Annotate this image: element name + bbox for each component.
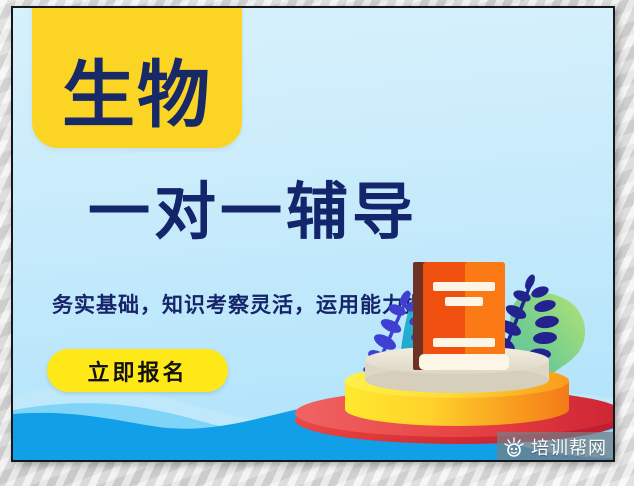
book [413,262,509,370]
page-title: 一对一辅导 [23,181,483,243]
book-band-2 [445,297,483,306]
enroll-now-button[interactable]: 立即报名 [47,349,228,392]
watermark-label: 培训帮网 [531,434,607,460]
book-cover-light [465,262,505,370]
sun-face-icon [503,437,525,457]
book-pages [419,354,509,370]
subject-badge-label: 生物 [32,59,242,132]
subject-badge: 生物 [32,6,242,148]
course-poster: 生物 一对一辅导 务实基础，知识考察灵活，运用能力提升 立即报名 [11,6,615,462]
enroll-now-label: 立即报名 [87,355,187,387]
illustration-svg [293,248,615,462]
book-band-1 [433,282,495,291]
book-podium-illustration [293,248,615,462]
book-band-3 [433,338,495,347]
watermark: 培训帮网 [497,432,615,462]
